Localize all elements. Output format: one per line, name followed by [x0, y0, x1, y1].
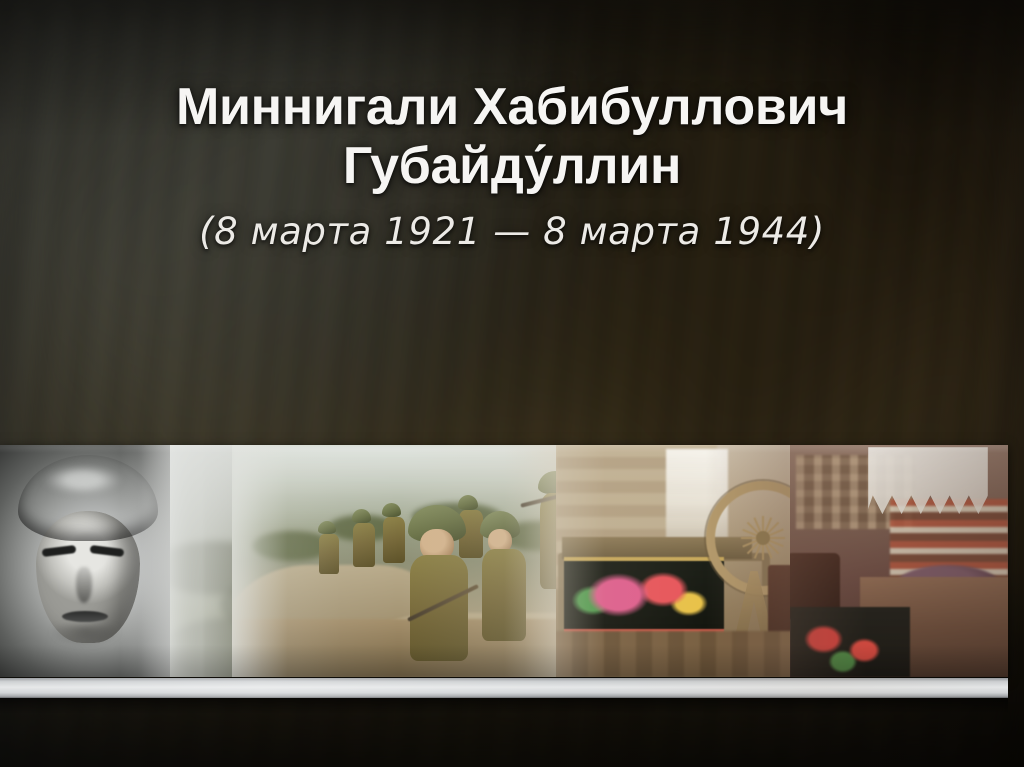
life-dates-subtitle: (8 марта 1921 — 8 марта 1944)	[40, 212, 984, 253]
battle-haze-overlay	[232, 445, 580, 677]
shelf-drop-shadow	[0, 698, 1008, 714]
izba-plank-floor	[556, 631, 816, 677]
collage-panel-battle-diorama	[232, 445, 580, 677]
presentation-slide: Миннигали Хабибуллович Губайду́ллин (8 м…	[0, 0, 1024, 767]
photo-collage-strip	[0, 445, 1008, 677]
izba-woven-rug	[564, 557, 724, 634]
collage-panel-textiles	[790, 445, 1008, 677]
collage-panel-izba-interior	[556, 445, 816, 677]
textiles-floral-rug	[790, 607, 910, 677]
page-title-line-2: Губайду́ллин	[343, 137, 681, 195]
spinning-wheel-hub	[756, 531, 770, 545]
shelf-reflection-band	[0, 678, 1008, 698]
title-block: Миннигали Хабибуллович Губайду́ллин (8 м…	[0, 78, 1024, 252]
page-title: Миннигали Хабибуллович Губайду́ллин	[117, 78, 907, 196]
page-title-line-1: Миннигали Хабибуллович	[176, 78, 848, 136]
